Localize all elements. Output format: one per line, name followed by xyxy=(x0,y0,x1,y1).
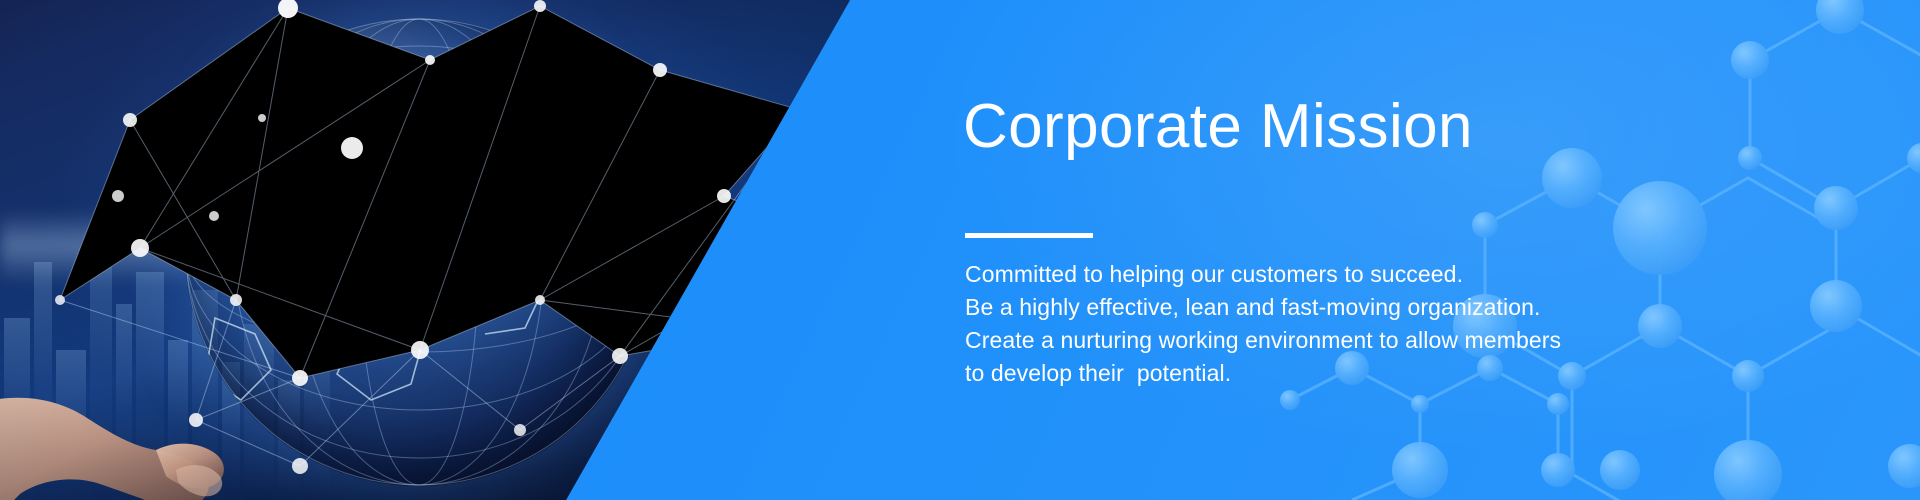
mission-statement-line: Be a highly effective, lean and fast-mov… xyxy=(965,291,1665,324)
banner-content: Corporate Mission Committed to helping o… xyxy=(963,0,1683,500)
mission-statement-line: to develop their potential. xyxy=(965,357,1665,390)
mission-statement-line: Committed to helping our customers to su… xyxy=(965,258,1665,291)
mission-statement-list: Committed to helping our customers to su… xyxy=(965,258,1665,390)
page-title: Corporate Mission xyxy=(963,96,1473,158)
title-divider xyxy=(965,233,1093,238)
corporate-mission-banner: Corporate Mission Committed to helping o… xyxy=(0,0,1920,500)
mission-statement-line: Create a nurturing working environment t… xyxy=(965,324,1665,357)
